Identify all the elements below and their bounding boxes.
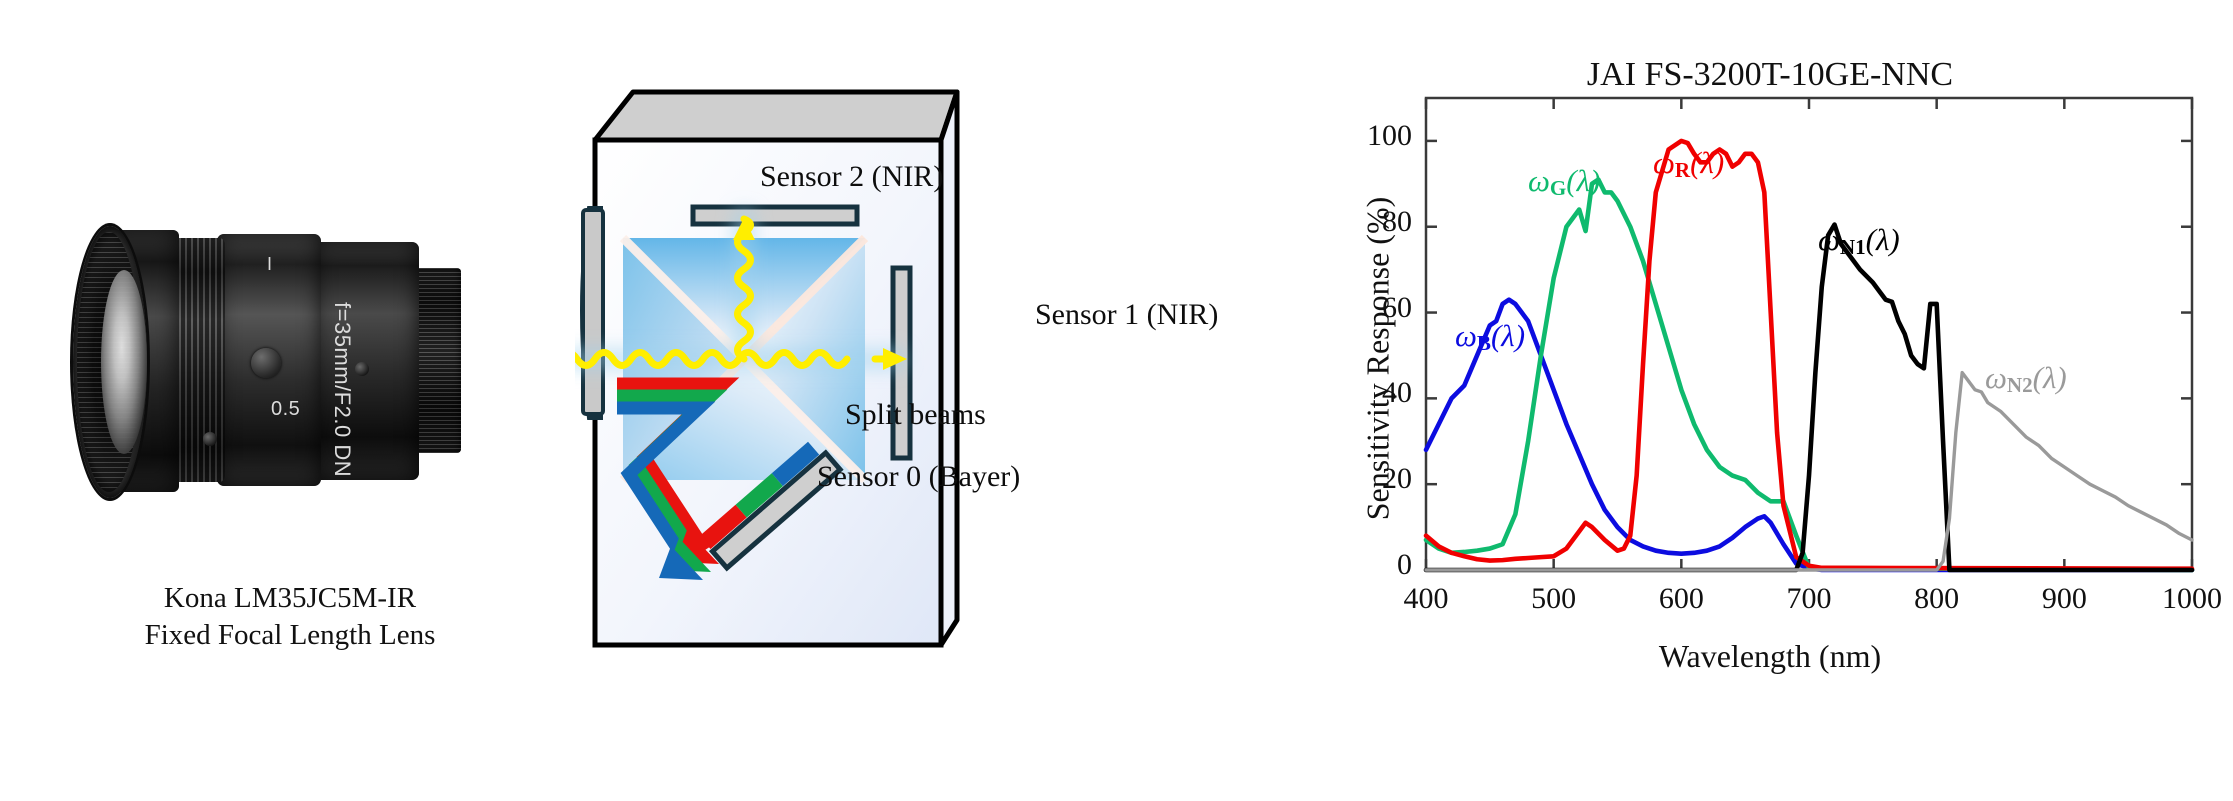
spectral-sensitivity-chart: JAI FS-3200T-10GE-NNC Wavelength (nm) Se… — [1330, 40, 2210, 780]
y-tick-60: 60 — [1340, 291, 1412, 325]
figure-root: f=35mm/F2.0 DN 0.5 I Kona LM35JC5M-IR Fi… — [0, 0, 2233, 801]
x-tick-400: 400 — [1388, 582, 1464, 616]
camera-top-lid — [595, 92, 957, 140]
y-tick-20: 20 — [1340, 462, 1412, 496]
lens-photo: f=35mm/F2.0 DN 0.5 I — [55, 150, 525, 570]
lens-index-marking: I — [267, 254, 273, 275]
x-tick-500: 500 — [1516, 582, 1592, 616]
x-tick-900: 900 — [2026, 582, 2102, 616]
y-tick-100: 100 — [1340, 119, 1412, 153]
lens-screw-rear — [355, 362, 369, 376]
x-axis-label: Wavelength (nm) — [1330, 638, 2210, 675]
camera-lens-mount — [582, 208, 603, 418]
curve-label-r: ωR(λ) — [1653, 145, 1724, 183]
x-tick-800: 800 — [1899, 582, 1975, 616]
lens-lock-knob — [251, 348, 281, 378]
sensor2-element — [693, 207, 857, 224]
lens-caption-line2: Fixed Focal Length Lens — [30, 617, 550, 654]
camera-prism-diagram: Sensor 2 (NIR) Sensor 1 (NIR) Split beam… — [575, 60, 1275, 750]
sensor1-label: Sensor 1 (NIR) — [1035, 298, 1218, 332]
curve-n1 — [1426, 225, 2192, 570]
y-tick-0: 0 — [1340, 548, 1412, 582]
curve-g — [1426, 180, 2192, 570]
lens-caption: Kona LM35JC5M-IR Fixed Focal Length Lens — [30, 580, 550, 654]
x-tick-600: 600 — [1643, 582, 1719, 616]
y-tick-40: 40 — [1340, 376, 1412, 410]
plot-area-wrapper: Wavelength (nm) Sensitivity Response (%)… — [1330, 40, 2210, 780]
curve-label-b: ωB(λ) — [1455, 318, 1525, 356]
curve-label-n2: ωN2(λ) — [1985, 360, 2067, 398]
y-tick-80: 80 — [1340, 205, 1412, 239]
x-tick-700: 700 — [1771, 582, 1847, 616]
sensor0-label: Sensor 0 (Bayer) — [817, 460, 1020, 494]
lens-screw-front — [203, 432, 217, 446]
sensor2-label: Sensor 2 (NIR) — [760, 160, 943, 194]
lens-panel: f=35mm/F2.0 DN 0.5 I Kona LM35JC5M-IR Fi… — [30, 150, 550, 770]
lens-glass-element — [101, 270, 147, 454]
lens-caption-line1: Kona LM35JC5M-IR — [30, 580, 550, 617]
x-tick-1000: 1000 — [2154, 582, 2230, 616]
lens-distance-marking: 0.5 — [271, 398, 300, 421]
curve-label-n1: ωN1(λ) — [1818, 222, 1900, 260]
curve-b — [1426, 300, 2192, 570]
lens-spec-marking: f=35mm/F2.0 DN — [329, 302, 355, 477]
split-beams-label: Split beams — [845, 398, 986, 432]
curve-label-g: ωG(λ) — [1528, 163, 1600, 201]
